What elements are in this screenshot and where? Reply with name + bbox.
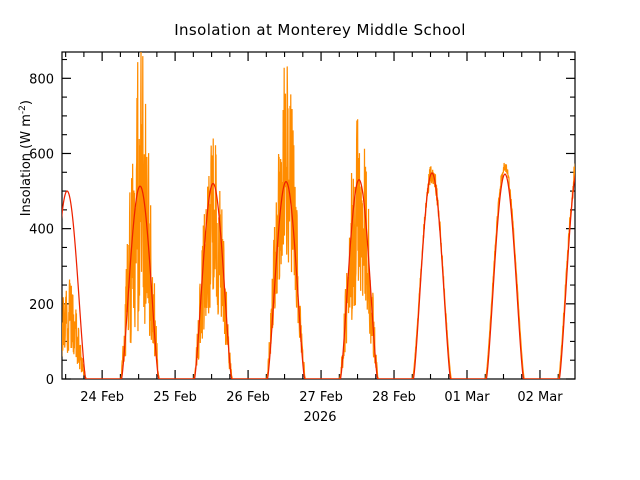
y-tick-label: 400 [29,223,54,238]
y-tick-label: 0 [46,373,54,388]
plot-area: 0200400600800 [0,0,640,480]
x-axis-label: 2026 [0,410,640,425]
chart-figure: Insolation at Monterey Middle School Ins… [0,0,640,480]
x-tick-label: 27 Feb [299,390,343,405]
x-tick-label: 24 Feb [80,390,124,405]
y-tick-label: 600 [29,147,54,162]
x-tick-label: 02 Mar [517,390,562,405]
y-tick-label: 200 [29,298,54,313]
y-tick-label: 800 [29,72,54,87]
x-tick-label: 01 Mar [444,390,489,405]
x-tick-label: 28 Feb [372,390,416,405]
x-tick-label: 25 Feb [153,390,197,405]
x-tick-label: 26 Feb [226,390,270,405]
